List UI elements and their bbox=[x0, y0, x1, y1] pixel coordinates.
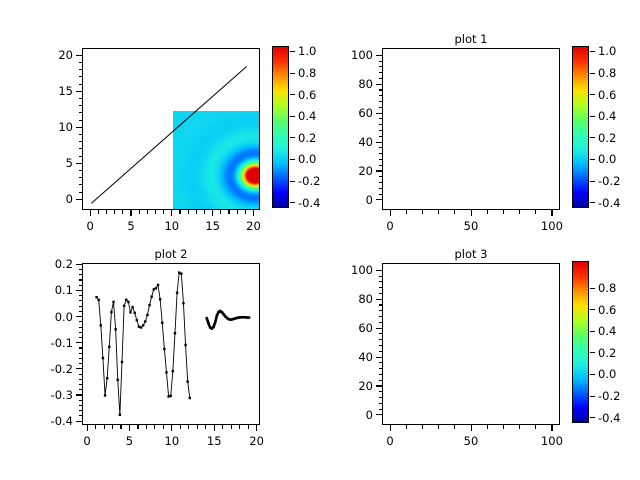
plot-3-ytick-minor bbox=[379, 328, 383, 329]
plot-1-ytick-minor bbox=[379, 142, 383, 143]
plot-2-ytick-minor bbox=[79, 379, 83, 380]
plot-1-ytick-minor bbox=[379, 72, 383, 73]
plot-3-ytick-label: 100 bbox=[351, 263, 373, 277]
plot-3-colorbar-tick bbox=[590, 331, 595, 332]
plot-1-xtick-minor bbox=[503, 210, 504, 214]
plot-2-ytick-minor bbox=[79, 347, 83, 348]
plot-1-ytick-minor bbox=[379, 84, 383, 85]
plot-2-xtick-label: 5 bbox=[126, 434, 133, 448]
plot-1-ytick-minor bbox=[379, 159, 383, 160]
plot-1-ytick-minor bbox=[379, 165, 383, 166]
plot-0-colorbar-tick-label: 0.8 bbox=[298, 66, 316, 80]
plot-0-ytick-minor bbox=[79, 134, 83, 135]
plot-2-ytick-label: -0.2 bbox=[51, 362, 73, 376]
plot-1-ytick-label: 60 bbox=[358, 106, 373, 120]
plot-3-ytick-minor bbox=[379, 357, 383, 358]
plot-0-xtick-minor bbox=[245, 210, 246, 214]
plot-3-xtick-label: 0 bbox=[386, 434, 393, 448]
plot-0-xtick-minor bbox=[253, 210, 254, 214]
plot-3-ytick-label: 80 bbox=[358, 292, 373, 306]
plot-0-ytick-label: 0 bbox=[66, 192, 73, 206]
plot-0-ytick-minor bbox=[79, 98, 83, 99]
plot-3-colorbar-tick bbox=[590, 396, 595, 397]
plot-0-xtick-minor bbox=[204, 210, 205, 214]
plot-0-ytick-minor bbox=[79, 84, 83, 85]
plot-1-colorbar-tick-label: 0.2 bbox=[598, 131, 616, 145]
plot-2-xtick-minor bbox=[248, 425, 249, 429]
plot-1-xtick-minor bbox=[487, 210, 488, 214]
plot-2-ytick-minor bbox=[79, 410, 83, 411]
plot-2-xtick-minor bbox=[171, 425, 172, 429]
plot-1-ytick-minor bbox=[379, 78, 383, 79]
plot-2-xtick-minor bbox=[205, 425, 206, 429]
plot-0-xtick-minor bbox=[98, 210, 99, 214]
plot-0-xtick-minor bbox=[90, 210, 91, 214]
plot-3-colorbar-tick-label: 0.2 bbox=[598, 346, 616, 360]
plot-2-ytick-minor bbox=[79, 269, 83, 270]
plot-1-ytick-label: 80 bbox=[358, 77, 373, 91]
figure-canvas: 05101520051015201.00.80.60.40.20.0-0.2-0… bbox=[0, 0, 640, 480]
plot-3-xtick-minor bbox=[438, 425, 439, 429]
plot-2-ytick-minor bbox=[79, 368, 83, 369]
plot-1-colorbar-tick-label: 0.6 bbox=[598, 88, 616, 102]
plot-3-colorbar-tick bbox=[590, 374, 595, 375]
plot-0-xtick-minor bbox=[114, 210, 115, 214]
plot-1-ytick-label: 0 bbox=[366, 193, 373, 207]
plot-3-ytick-minor bbox=[379, 414, 383, 415]
plot-1-ytick-minor bbox=[379, 66, 383, 67]
plot-1-colorbar-tick bbox=[590, 137, 595, 138]
plot-3-colorbar-tick-label: 0.4 bbox=[598, 324, 616, 338]
plot-2-ytick-minor bbox=[79, 290, 83, 291]
plot-2-xtick-minor bbox=[197, 425, 198, 429]
plot-1-colorbar-tick bbox=[590, 73, 595, 74]
plot-2-segment-a-line bbox=[97, 273, 190, 415]
plot-2-ytick-minor bbox=[79, 332, 83, 333]
plot-1-colorbar-tick-label: -0.2 bbox=[598, 174, 620, 188]
plot-3-ytick-label: 20 bbox=[358, 379, 373, 393]
plot-2-ytick-minor bbox=[79, 321, 83, 322]
plot-1-ytick-minor bbox=[379, 147, 383, 148]
plot-2-axes bbox=[82, 263, 260, 425]
plot-3-ytick-minor bbox=[379, 385, 383, 386]
plot-3-ytick-label: 40 bbox=[358, 350, 373, 364]
plot-1-ytick-minor bbox=[379, 188, 383, 189]
plot-0-colorbar-tick-label: -0.2 bbox=[298, 174, 320, 188]
plot-3-colorbar-tick-label: 0.8 bbox=[598, 281, 616, 295]
plot-3-ytick-minor bbox=[379, 345, 383, 346]
plot-1-ytick-minor bbox=[379, 118, 383, 119]
plot-2-title: plot 2 bbox=[82, 247, 260, 261]
plot-0-axes bbox=[82, 48, 260, 210]
plot-2-xtick-minor bbox=[214, 425, 215, 429]
plot-2-xtick-minor bbox=[222, 425, 223, 429]
plot-2-ytick-label: 0.0 bbox=[55, 310, 73, 324]
plot-3-ytick-minor bbox=[379, 304, 383, 305]
plot-2-ytick-label: -0.4 bbox=[51, 414, 73, 428]
plot-3-ytick-minor bbox=[379, 403, 383, 404]
plot-2-ytick-minor bbox=[79, 342, 83, 343]
plot-1-xtick-minor bbox=[551, 210, 552, 214]
plot-0-ytick-minor bbox=[79, 120, 83, 121]
plot-0-ytick-minor bbox=[79, 177, 83, 178]
plot-3-ytick-minor bbox=[379, 270, 383, 271]
plot-0-ytick-minor bbox=[79, 192, 83, 193]
plot-2-xtick-label: 10 bbox=[165, 434, 180, 448]
plot-2-ytick-minor bbox=[79, 358, 83, 359]
plot-3-xtick-minor bbox=[519, 425, 520, 429]
plot-2-xtick-minor bbox=[256, 425, 257, 429]
plot-1-xtick-minor bbox=[406, 210, 407, 214]
plot-1-ytick-minor bbox=[379, 153, 383, 154]
plot-3-ytick-minor bbox=[379, 380, 383, 381]
plot-2-xtick-minor bbox=[112, 425, 113, 429]
plot-0-xtick-minor bbox=[220, 210, 221, 214]
plot-3-ytick-minor bbox=[379, 351, 383, 352]
plot-2-ytick-minor bbox=[79, 415, 83, 416]
plot-0-colorbar-tick-label: 0.4 bbox=[298, 109, 316, 123]
plot-0-colorbar-tick bbox=[290, 116, 295, 117]
plot-2-ytick-minor bbox=[79, 353, 83, 354]
plot-1-colorbar-tick bbox=[590, 51, 595, 52]
plot-1-colorbar-tick bbox=[590, 116, 595, 117]
plot-0-ytick-label: 5 bbox=[66, 156, 73, 170]
plot-0-ytick-minor bbox=[79, 141, 83, 142]
plot-3-axes bbox=[382, 263, 560, 425]
plot-2-ytick-minor bbox=[79, 327, 83, 328]
plot-3-ytick-minor bbox=[379, 322, 383, 323]
plot-1-ytick-minor bbox=[379, 124, 383, 125]
plot-1-ytick-minor bbox=[379, 136, 383, 137]
plot-3-xtick-label: 50 bbox=[464, 434, 479, 448]
plot-2-ytick-label: 0.1 bbox=[55, 283, 73, 297]
plot-3-ytick-minor bbox=[379, 333, 383, 334]
plot-1-ytick-minor bbox=[379, 101, 383, 102]
plot-3-xtick-minor bbox=[406, 425, 407, 429]
plot-0-ytick-minor bbox=[79, 69, 83, 70]
plot-3-colorbar-tick-label: 0.6 bbox=[598, 303, 616, 317]
plot-2-ytick-minor bbox=[79, 384, 83, 385]
plot-0-xtick-minor bbox=[147, 210, 148, 214]
plot-3-ytick-minor bbox=[379, 316, 383, 317]
plot-1-xtick-minor bbox=[390, 210, 391, 214]
plot-3-ytick-minor bbox=[379, 299, 383, 300]
plot-0-colorbar[interactable] bbox=[272, 46, 289, 208]
plot-3-xtick-minor bbox=[503, 425, 504, 429]
plot-2-xtick-minor bbox=[146, 425, 147, 429]
plot-1-colorbar-tick-label: 0.0 bbox=[598, 152, 616, 166]
plot-2-xtick-label: 15 bbox=[207, 434, 222, 448]
plot-2-xtick-label: 20 bbox=[249, 434, 264, 448]
plot-3-colorbar-tick bbox=[590, 352, 595, 353]
plot-1-xtick-minor bbox=[422, 210, 423, 214]
plot-0-colorbar-tick-label: 0.2 bbox=[298, 131, 316, 145]
plot-3-ytick-minor bbox=[379, 391, 383, 392]
plot-2-xtick-minor bbox=[188, 425, 189, 429]
plot-1-xtick-label: 100 bbox=[541, 219, 563, 233]
plot-1-colorbar-tick-label: 1.0 bbox=[598, 44, 616, 58]
plot-2-ytick-label: -0.3 bbox=[51, 388, 73, 402]
plot-1-colorbar-tick bbox=[590, 202, 595, 203]
plot-3-colorbar-tick-label: -0.4 bbox=[598, 411, 620, 425]
plot-1-xtick-minor bbox=[438, 210, 439, 214]
plot-3-xtick-minor bbox=[422, 425, 423, 429]
plot-0-ytick-minor bbox=[79, 91, 83, 92]
plot-1-ytick-minor bbox=[379, 107, 383, 108]
plot-2-ytick-minor bbox=[79, 363, 83, 364]
plot-2-plot-area bbox=[83, 264, 260, 425]
plot-3-xtick-minor bbox=[471, 425, 472, 429]
plot-1-ytick-minor bbox=[379, 182, 383, 183]
plot-3-xtick-minor bbox=[454, 425, 455, 429]
plot-1-colorbar-tick bbox=[590, 94, 595, 95]
plot-3-ytick-minor bbox=[379, 397, 383, 398]
plot-1-xtick-minor bbox=[471, 210, 472, 214]
plot-3-ytick-minor bbox=[379, 374, 383, 375]
plot-0-colorbar-tick bbox=[290, 202, 295, 203]
plot-2-ytick-minor bbox=[79, 300, 83, 301]
plot-3-colorbar-tick-label: -0.2 bbox=[598, 389, 620, 403]
plot-1-ytick-label: 20 bbox=[358, 164, 373, 178]
plot-1-xtick-minor bbox=[454, 210, 455, 214]
plot-2-ytick-minor bbox=[79, 274, 83, 275]
plot-1-colorbar-tick-label: -0.4 bbox=[598, 196, 620, 210]
plot-1-xtick-minor bbox=[535, 210, 536, 214]
plot-0-ytick-minor bbox=[79, 170, 83, 171]
plot-2-ytick-minor bbox=[79, 394, 83, 395]
plot-0-xtick-minor bbox=[155, 210, 156, 214]
plot-2-xtick-minor bbox=[95, 425, 96, 429]
plot-1-xtick-minor bbox=[519, 210, 520, 214]
plot-0-xtick-label: 20 bbox=[246, 219, 261, 233]
plot-2-ytick-minor bbox=[79, 295, 83, 296]
plot-1-ytick-minor bbox=[379, 61, 383, 62]
plot-3-colorbar[interactable] bbox=[572, 261, 589, 423]
plot-0-ytick-minor bbox=[79, 55, 83, 56]
plot-0-xtick-minor bbox=[179, 210, 180, 214]
plot-3-xtick-minor bbox=[487, 425, 488, 429]
plot-2-ytick-label: 0.2 bbox=[55, 257, 73, 271]
plot-0-colorbar-tick bbox=[290, 94, 295, 95]
plot-1-ytick-label: 100 bbox=[351, 48, 373, 62]
plot-1-colorbar[interactable] bbox=[572, 46, 589, 208]
plot-0-colorbar-tick-label: 0.0 bbox=[298, 152, 316, 166]
plot-3-xtick-minor bbox=[390, 425, 391, 429]
plot-2-ytick-label: -0.1 bbox=[51, 336, 73, 350]
plot-0-xtick-minor bbox=[171, 210, 172, 214]
plot-0-xtick-label: 10 bbox=[164, 219, 179, 233]
plot-2-ytick-minor bbox=[79, 389, 83, 390]
plot-0-xtick-minor bbox=[228, 210, 229, 214]
plot-2-ytick-minor bbox=[79, 337, 83, 338]
plot-1-ytick-minor bbox=[379, 130, 383, 131]
plot-0-left-image-block bbox=[173, 111, 260, 210]
plot-1-ytick-minor bbox=[379, 170, 383, 171]
plot-0-xtick-minor bbox=[212, 210, 213, 214]
plot-1-colorbar-tick-label: 0.8 bbox=[598, 66, 616, 80]
plot-2-xtick-minor bbox=[239, 425, 240, 429]
plot-2-ytick-minor bbox=[79, 311, 83, 312]
plot-0-colorbar-tick bbox=[290, 73, 295, 74]
plot-0-xtick-minor bbox=[163, 210, 164, 214]
plot-0-ytick-minor bbox=[79, 163, 83, 164]
plot-0-xtick-minor bbox=[122, 210, 123, 214]
plot-0-colorbar-tick-label: -0.4 bbox=[298, 196, 320, 210]
plot-0-colorbar-tick bbox=[290, 159, 295, 160]
plot-1-ytick-label: 40 bbox=[358, 135, 373, 149]
plot-2-xtick-minor bbox=[180, 425, 181, 429]
plot-3-ytick-minor bbox=[379, 368, 383, 369]
plot-0-xtick-minor bbox=[130, 210, 131, 214]
plot-1-ytick-minor bbox=[379, 199, 383, 200]
plot-2-ytick-minor bbox=[79, 264, 83, 265]
plot-2-ytick-minor bbox=[79, 405, 83, 406]
plot-2-xtick-label: 0 bbox=[83, 434, 90, 448]
plot-0-colorbar-tick-label: 1.0 bbox=[298, 44, 316, 58]
plot-0-ytick-minor bbox=[79, 127, 83, 128]
plot-1-colorbar-tick-label: 0.4 bbox=[598, 109, 616, 123]
plot-2-ytick-minor bbox=[79, 421, 83, 422]
plot-2-ytick-minor bbox=[79, 400, 83, 401]
plot-3-colorbar-tick bbox=[590, 309, 595, 310]
plot-2-ytick-minor bbox=[79, 285, 83, 286]
plot-3-xtick-minor bbox=[535, 425, 536, 429]
plot-0-ytick-minor bbox=[79, 199, 83, 200]
plot-0-ytick-minor bbox=[79, 148, 83, 149]
plot-0-xtick-minor bbox=[188, 210, 189, 214]
plot-0-ytick-label: 15 bbox=[58, 84, 73, 98]
plot-1-xtick-label: 50 bbox=[464, 219, 479, 233]
plot-0-ytick-label: 20 bbox=[58, 48, 73, 62]
plot-3-ytick-minor bbox=[379, 362, 383, 363]
plot-1-title: plot 1 bbox=[382, 32, 560, 46]
plot-3-ytick-label: 60 bbox=[358, 321, 373, 335]
plot-3-ytick-minor bbox=[379, 339, 383, 340]
plot-2-xtick-minor bbox=[104, 425, 105, 429]
plot-0-ytick-minor bbox=[79, 105, 83, 106]
plot-3-ytick-minor bbox=[379, 276, 383, 277]
plot-1-colorbar-tick bbox=[590, 159, 595, 160]
plot-2-ytick-minor bbox=[79, 306, 83, 307]
plot-2-ytick-minor bbox=[79, 374, 83, 375]
plot-2-ytick-minor bbox=[79, 316, 83, 317]
plot-1-ytick-minor bbox=[379, 194, 383, 195]
plot-1-ytick-minor bbox=[379, 176, 383, 177]
plot-3-ytick-minor bbox=[379, 310, 383, 311]
plot-0-ytick-minor bbox=[79, 184, 83, 185]
plot-1-colorbar-tick bbox=[590, 181, 595, 182]
plot-3-xtick-minor bbox=[551, 425, 552, 429]
plot-1-ytick-minor bbox=[379, 113, 383, 114]
plot-3-ytick-minor bbox=[379, 281, 383, 282]
plot-2-xtick-minor bbox=[87, 425, 88, 429]
plot-0-colorbar-tick bbox=[290, 137, 295, 138]
plot-0-ytick-label: 10 bbox=[58, 120, 73, 134]
plot-3-ytick-label: 0 bbox=[366, 408, 373, 422]
plot-0-ytick-minor bbox=[79, 112, 83, 113]
plot-1-xtick-label: 0 bbox=[386, 219, 393, 233]
plot-0-colorbar-tick bbox=[290, 181, 295, 182]
plot-0-xtick-minor bbox=[196, 210, 197, 214]
plot-2-xtick-minor bbox=[154, 425, 155, 429]
plot-2-xtick-minor bbox=[137, 425, 138, 429]
plot-2-xtick-minor bbox=[231, 425, 232, 429]
plot-1-ytick-minor bbox=[379, 89, 383, 90]
plot-3-ytick-minor bbox=[379, 293, 383, 294]
plot-0-xtick-label: 0 bbox=[86, 219, 93, 233]
plot-1-axes bbox=[382, 48, 560, 210]
plot-2-xtick-minor bbox=[163, 425, 164, 429]
plot-3-colorbar-tick bbox=[590, 288, 595, 289]
plot-1-ytick-minor bbox=[379, 95, 383, 96]
plot-2-ytick-minor bbox=[79, 279, 83, 280]
plot-2-xtick-minor bbox=[120, 425, 121, 429]
plot-0-xtick-minor bbox=[237, 210, 238, 214]
plot-0-colorbar-tick bbox=[290, 51, 295, 52]
plot-2-xtick-minor bbox=[129, 425, 130, 429]
plot-3-title: plot 3 bbox=[382, 247, 560, 261]
plot-0-ytick-minor bbox=[79, 76, 83, 77]
plot-3-colorbar-tick bbox=[590, 417, 595, 418]
plot-0-colorbar-tick-label: 0.6 bbox=[298, 88, 316, 102]
plot-3-colorbar-tick-label: 0.0 bbox=[598, 367, 616, 381]
plot-0-xtick-minor bbox=[139, 210, 140, 214]
plot-0-xtick-label: 15 bbox=[205, 219, 220, 233]
plot-0-ytick-minor bbox=[79, 156, 83, 157]
plot-0-xtick-minor bbox=[106, 210, 107, 214]
plot-0-xtick-label: 5 bbox=[127, 219, 134, 233]
plot-0-ytick-minor bbox=[79, 62, 83, 63]
plot-3-xtick-label: 100 bbox=[541, 434, 563, 448]
plot-3-ytick-minor bbox=[379, 409, 383, 410]
plot-1-ytick-minor bbox=[379, 55, 383, 56]
plot-3-ytick-minor bbox=[379, 287, 383, 288]
